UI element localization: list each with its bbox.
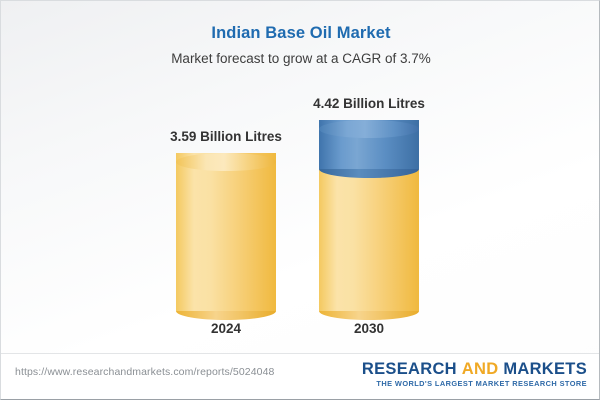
research-and-markets-logo[interactable]: RESEARCH AND MARKETS THE WORLD'S LARGEST… — [362, 360, 587, 389]
cylinder-body — [319, 161, 419, 311]
bar-value-label-2030: 4.42 Billion Litres — [259, 96, 479, 111]
logo-word-markets: MARKETS — [503, 360, 587, 378]
bar-value-label-2024: 3.59 Billion Litres — [116, 129, 336, 144]
bar-group-2030[interactable]: 4.42 Billion Litres 2030 — [319, 1, 419, 346]
logo-word-research: RESEARCH — [362, 360, 457, 378]
bar-segment-growth-2030[interactable] — [319, 120, 419, 178]
footer: https://www.researchandmarkets.com/repor… — [1, 354, 600, 400]
logo-word-and: AND — [462, 360, 499, 378]
bar-segment-base-2024[interactable] — [176, 153, 276, 320]
logo-wordmark: RESEARCH AND MARKETS — [362, 360, 587, 379]
bar-segment-base-2030[interactable] — [319, 161, 419, 320]
cylinder-body — [176, 153, 276, 311]
bar-group-2024[interactable]: 3.59 Billion Litres 2024 — [176, 1, 276, 346]
chart-card: Indian Base Oil Market Market forecast t… — [0, 0, 600, 400]
report-url-link[interactable]: https://www.researchandmarkets.com/repor… — [15, 366, 274, 378]
category-label-2030: 2030 — [289, 321, 449, 336]
cylinder-top-cap — [319, 120, 419, 138]
logo-tagline: THE WORLD'S LARGEST MARKET RESEARCH STOR… — [362, 379, 587, 389]
category-label-2024: 2024 — [146, 321, 306, 336]
plot-area: 3.59 Billion Litres 2024 4.42 Billion Li… — [1, 1, 600, 346]
cylinder-top-cap — [176, 153, 276, 171]
